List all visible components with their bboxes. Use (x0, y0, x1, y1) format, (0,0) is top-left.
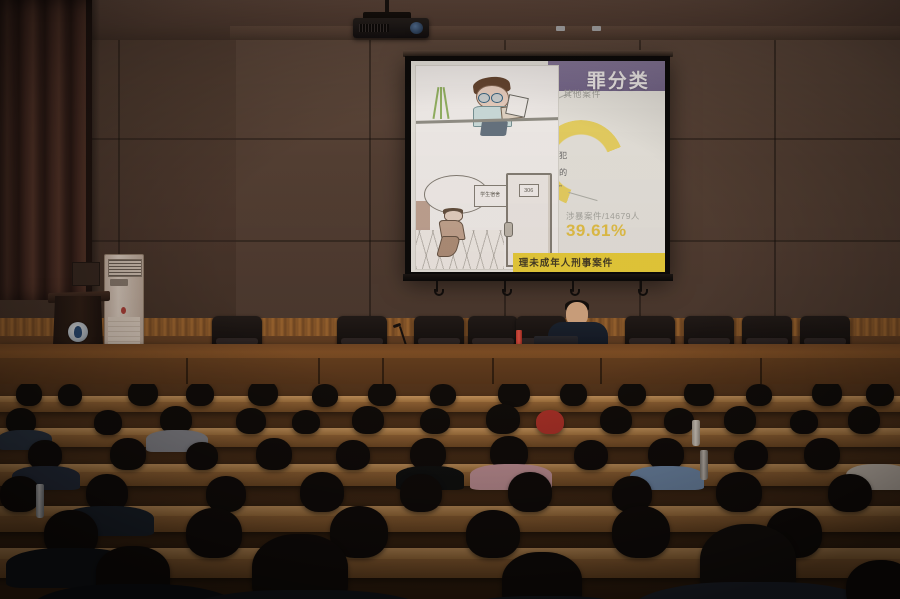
slide-canvas: 罪分类 其他案件 年人犯 件中的 大类” 涉暴案件/14679人 39.61% (411, 61, 665, 272)
audience-head (420, 408, 450, 434)
audience-head (312, 384, 338, 407)
stage-curtain (0, 0, 92, 300)
audience-head (812, 384, 842, 406)
ceiling-cove-light (230, 26, 900, 42)
audience-head (186, 384, 214, 406)
audience-head-red-cap (536, 410, 564, 434)
audience-head (828, 474, 872, 512)
uniform-badge-right-icon (592, 26, 601, 31)
slide-cartoon-illustration: 学生宿舍 306 (415, 65, 559, 270)
audience-head (186, 508, 242, 558)
dorm-sign: 学生宿舍 (474, 185, 507, 206)
audience-head (790, 410, 818, 434)
audience-head (292, 410, 320, 434)
audience-head (430, 384, 456, 406)
ac-brand-logo-icon (121, 307, 126, 314)
audience-head (352, 406, 384, 434)
audience-head (94, 410, 122, 435)
thief-figure (439, 210, 467, 255)
door-handle-icon (504, 222, 513, 237)
chart-label-violent-cases: 涉暴案件/14679人 (566, 210, 640, 222)
easel-icon (433, 87, 456, 119)
audience-head (300, 472, 344, 512)
audience-head (206, 476, 246, 512)
thief-leg (436, 236, 461, 257)
audience-head (128, 384, 158, 406)
auditorium-photo: 罪分类 其他案件 年人犯 件中的 大类” 涉暴案件/14679人 39.61% (0, 0, 900, 599)
boy-legs (480, 121, 508, 136)
audience-head (734, 440, 768, 470)
room-number-plate: 306 (519, 184, 539, 197)
boy-glasses-right-icon (491, 93, 503, 103)
audience-head (58, 384, 82, 406)
audience-head (612, 506, 670, 558)
audience-head (804, 438, 840, 470)
audience-head (618, 384, 646, 406)
chart-label-other-cases: 其他案件 (563, 88, 601, 100)
audience-head (866, 384, 894, 406)
audience-seating (0, 384, 900, 599)
audience-head (746, 384, 772, 406)
boy-book-icon (505, 94, 529, 118)
room-number-text: 306 (520, 185, 538, 196)
chart-percent-value: 39.61% (566, 221, 627, 241)
ac-grill-icon (108, 259, 142, 277)
audience-head (0, 476, 40, 512)
audience-head (600, 406, 632, 434)
slide-footer-band: 理未成年人刑事案件 (513, 253, 665, 272)
audience-head (560, 384, 587, 406)
cartoon-scene-top (416, 66, 558, 171)
projector-vent-icon (359, 24, 389, 32)
audience-head (16, 384, 42, 406)
audience-head (256, 438, 292, 470)
screen-hook-4 (640, 281, 642, 292)
audience-shoulders-front-navy (630, 582, 880, 599)
screen-weight-bar (403, 274, 673, 281)
audience-head (466, 510, 520, 558)
audience-head (724, 406, 756, 434)
institution-emblem-icon (68, 322, 88, 342)
audience-head-front (502, 552, 582, 599)
screen-hook-1 (436, 281, 438, 292)
slide-footer-text: 理未成年人刑事案件 (519, 255, 614, 269)
audience-head (664, 408, 694, 434)
audience-head (508, 472, 552, 512)
water-bottle (700, 450, 708, 480)
audience-head (848, 406, 880, 434)
projector-lens-icon (410, 22, 423, 34)
audience-head (486, 404, 520, 434)
screen-hook-2 (504, 281, 506, 292)
audience-head (236, 408, 266, 434)
audience-head (716, 472, 762, 512)
water-bottle (36, 484, 44, 518)
audience-head (186, 442, 218, 470)
wall-access-panel (72, 262, 100, 286)
ac-control-panel[interactable] (110, 279, 128, 286)
audience-head (684, 384, 714, 406)
dorm-sign-text: 学生宿舍 (475, 186, 506, 205)
door-frame (548, 175, 550, 264)
screen-hook-3 (572, 281, 574, 292)
thermos-bottle (692, 420, 700, 446)
audience-head (574, 440, 608, 470)
curtain-shadow (86, 0, 100, 300)
audience-head (336, 440, 370, 470)
audience-head (368, 384, 396, 406)
uniform-badge-left-icon (556, 26, 565, 31)
audience-head (400, 474, 442, 512)
ceiling-projector (353, 18, 429, 38)
audience-head (248, 384, 278, 406)
audience-head (110, 438, 146, 470)
projection-screen: 罪分类 其他案件 年人犯 件中的 大类” 涉暴案件/14679人 39.61% (405, 56, 670, 278)
